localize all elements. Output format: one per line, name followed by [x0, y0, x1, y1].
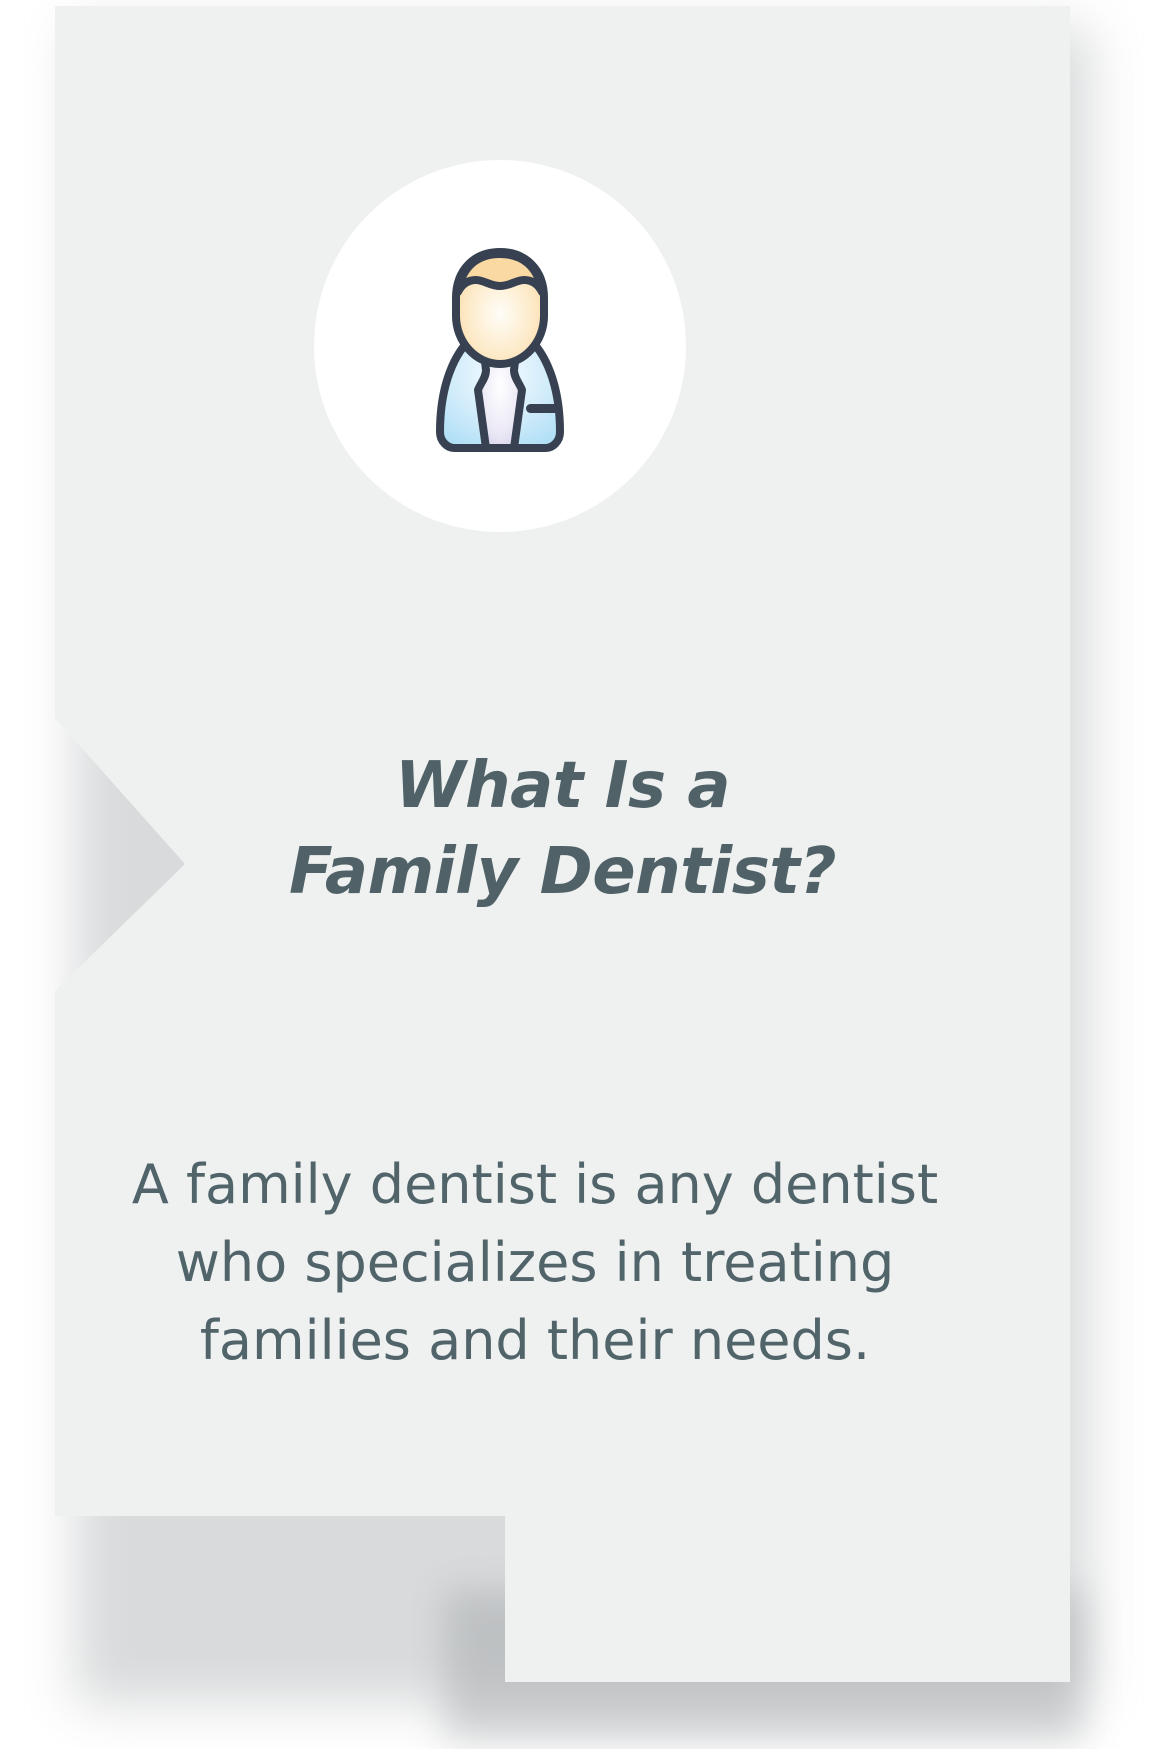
dentist-person-icon — [390, 236, 610, 456]
body-text-line-1: A family dentist is any dentist — [95, 1146, 975, 1224]
body-text: A family dentist is any dentist who spec… — [95, 1146, 975, 1380]
page-title: What Is a Family Dentist? — [55, 743, 1070, 915]
page-title-line-2: Family Dentist? — [55, 829, 1070, 915]
icon-medallion — [314, 160, 686, 532]
body-text-line-3: families and their needs. — [95, 1302, 975, 1380]
page-canvas: What Is a Family Dentist? A family denti… — [0, 0, 1152, 1749]
page-title-line-1: What Is a — [395, 749, 730, 823]
body-text-line-2: who specializes in treating — [95, 1224, 975, 1302]
